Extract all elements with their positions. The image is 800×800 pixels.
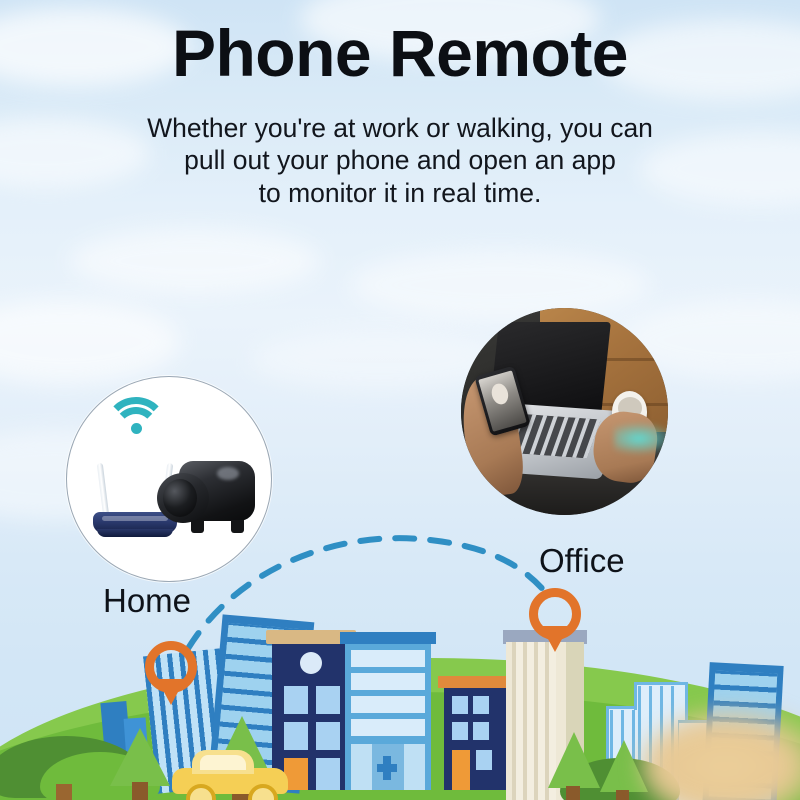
mini-security-camera-icon	[157, 459, 255, 533]
cloud-shape	[0, 300, 180, 384]
building-blue-window	[473, 696, 489, 714]
building-blue-window	[452, 722, 468, 740]
building-navy-window	[284, 686, 308, 714]
hospital-cross-icon	[377, 764, 397, 772]
camera-foot-right	[231, 520, 244, 533]
subtitle-line-1: Whether you're at work or walking, you c…	[0, 112, 800, 144]
building-hospital-band	[351, 673, 425, 690]
cloud-shape	[70, 228, 320, 294]
building-navy-round-window	[300, 652, 322, 674]
building-blue-window	[476, 750, 492, 770]
building-blue-door	[452, 750, 470, 790]
building-navy-window	[284, 722, 308, 750]
map-pin-office-icon[interactable]	[529, 588, 581, 654]
building-hospital-band	[351, 696, 425, 713]
headline-block: Phone Remote Whether you're at work or w…	[0, 0, 800, 209]
building-blue-window	[473, 722, 489, 740]
building-hospital-band	[351, 719, 425, 736]
cityscape-illustration	[0, 540, 800, 800]
building-blue-block-roof	[438, 676, 512, 688]
phone-remote-poster: Phone Remote Whether you're at work or w…	[0, 0, 800, 800]
building-navy-window	[316, 686, 340, 714]
wifi-signal-icon	[105, 397, 167, 445]
office-photo-circle	[461, 308, 668, 515]
desk-laptop-phone-photo	[461, 308, 668, 515]
tree-trunk	[56, 784, 72, 800]
label-home: Home	[103, 582, 191, 620]
pin-tip	[157, 679, 185, 705]
tree-icon	[548, 732, 600, 788]
wifi-dot	[131, 423, 142, 434]
pin-tip	[541, 626, 569, 652]
building-hospital-roof	[340, 632, 436, 644]
tree-trunk	[132, 782, 148, 800]
subtitle-line-2: pull out your phone and open an app	[0, 144, 800, 176]
page-subtitle: Whether you're at work or walking, you c…	[0, 86, 800, 209]
camera-highlight	[217, 467, 239, 480]
tree-trunk	[566, 786, 580, 800]
building-navy-window	[316, 722, 340, 750]
subtitle-line-3: to monitor it in real time.	[0, 177, 800, 209]
tree-trunk	[616, 790, 629, 800]
car-icon	[172, 750, 288, 800]
car-window	[200, 755, 246, 770]
router-antenna-left	[97, 463, 110, 517]
label-office: Office	[539, 542, 625, 580]
building-navy-window	[316, 758, 340, 790]
photo-teal-glow	[614, 422, 668, 455]
camera-foot-left	[191, 520, 204, 533]
page-title: Phone Remote	[0, 0, 800, 86]
map-pin-home-icon[interactable]	[145, 641, 197, 707]
camera-lens	[163, 479, 197, 517]
building-hospital-band	[351, 650, 425, 667]
building-blue-window	[452, 696, 468, 714]
tree-icon	[110, 728, 170, 786]
photo-phone-live-view	[489, 382, 510, 407]
